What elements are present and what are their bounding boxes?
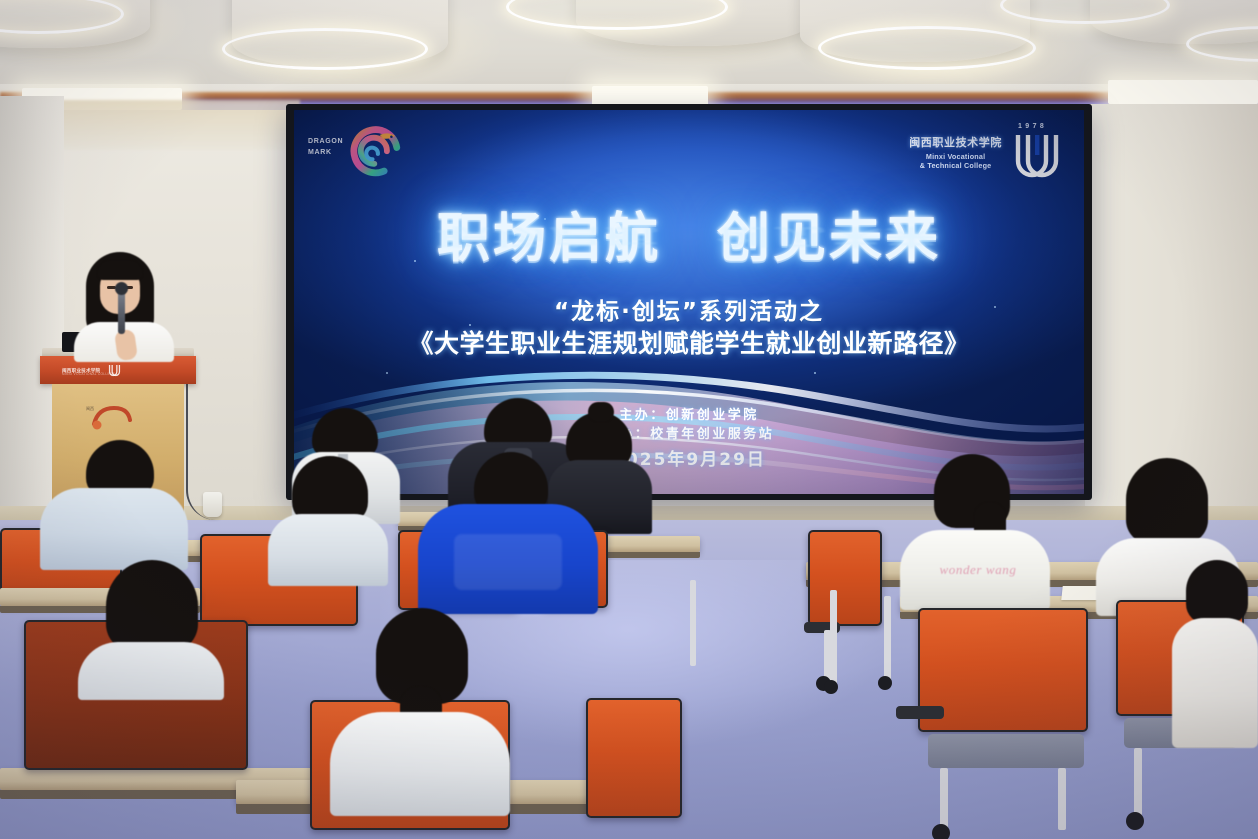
chair (586, 698, 682, 839)
chair-backrest (808, 530, 882, 626)
table-caster (878, 676, 892, 690)
person-shirt (1172, 618, 1258, 748)
person-shirt (40, 488, 188, 570)
chair-backrest (586, 698, 682, 818)
chair (918, 608, 1088, 839)
panel-light-fixture (592, 86, 708, 106)
chair-caster (1126, 812, 1144, 830)
person-shirt (268, 514, 388, 586)
podium-decal-icon: 闽西 (84, 400, 138, 434)
audience-member (1172, 560, 1258, 760)
paper-cup (203, 492, 222, 517)
person-hair-bun (588, 402, 614, 422)
table-caster (824, 680, 838, 694)
audience-member (330, 608, 510, 808)
chair-leg (1134, 748, 1142, 816)
ring-light-icon (222, 28, 428, 70)
person-hair (106, 560, 198, 652)
wall-warm-glow (60, 100, 300, 150)
table-leg (690, 580, 696, 666)
svg-text:闽西: 闽西 (86, 405, 94, 411)
shirt-graphic-text: wonder wang (924, 562, 1032, 578)
chair (808, 530, 882, 678)
chair-leg (940, 768, 948, 830)
table-leg (884, 596, 891, 682)
person-shirt (330, 712, 510, 816)
audience-member (268, 456, 388, 576)
chair-caster (932, 824, 950, 839)
chair-leg (1058, 768, 1066, 830)
person-hair (312, 408, 378, 458)
table-leg (830, 590, 837, 686)
presenter (72, 252, 182, 357)
audience-member: wonder wang (900, 454, 1050, 604)
ring-light-icon (818, 26, 1036, 70)
presenter-fringe (97, 260, 143, 280)
led-screen-display[interactable]: DRAGON MARK (294, 110, 1084, 494)
person-shirt (78, 642, 224, 700)
person-hair (1126, 458, 1208, 544)
microphone-head (115, 282, 128, 295)
chair-seat (928, 734, 1084, 768)
lecture-room-photo: DRAGON MARK (0, 0, 1258, 839)
hoodie-graphic (454, 534, 562, 590)
panel-light-fixture (1108, 80, 1258, 104)
audience-member (70, 560, 230, 690)
person-hair (1186, 560, 1248, 624)
audience-member (418, 452, 598, 612)
audience-member (40, 440, 188, 556)
screen-vignette (294, 110, 1084, 494)
podium-band-text-en: MINXI VOCATIONAL COLLEGE (62, 372, 115, 376)
chair-armrest (896, 706, 944, 719)
